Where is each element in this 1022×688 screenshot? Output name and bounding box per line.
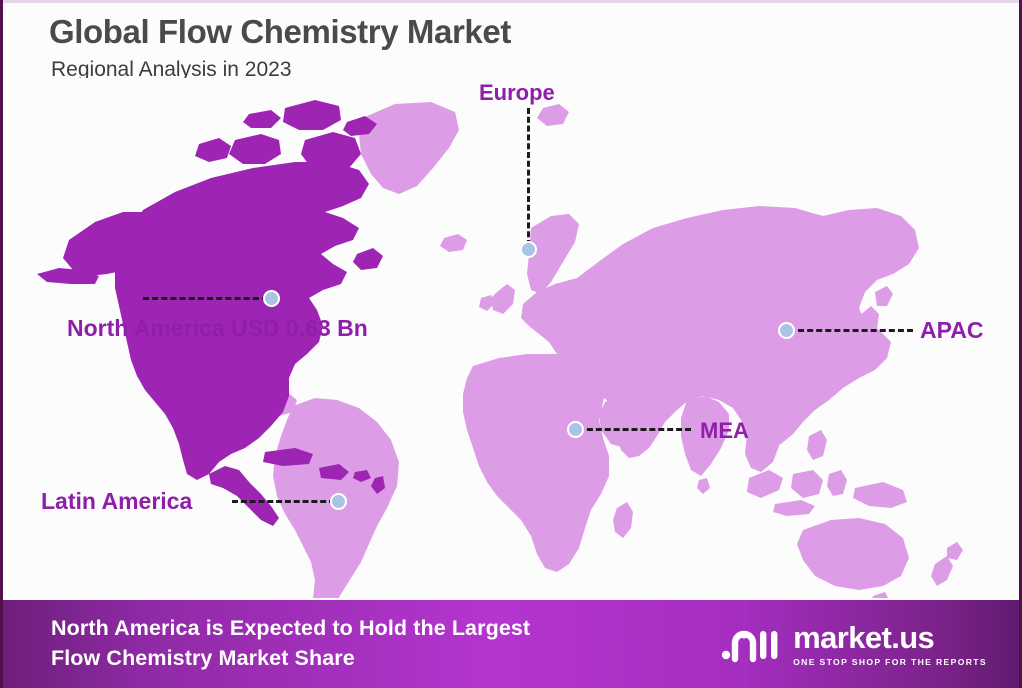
- region-label-europe[interactable]: Europe: [479, 80, 555, 107]
- infographic-root: Global Flow Chemistry Market Regional An…: [0, 0, 1022, 688]
- brand-text-block: market.us ONE STOP SHOP FOR THE REPORTS: [793, 622, 987, 667]
- region-label-latin-america[interactable]: Latin America: [41, 487, 192, 515]
- brand-lockup[interactable]: market.us ONE STOP SHOP FOR THE REPORTS: [720, 619, 997, 670]
- market-us-logo-icon: [720, 619, 782, 670]
- brand-name: market.us: [793, 622, 934, 653]
- bottom-banner: North America is Expected to Hold the La…: [3, 600, 1022, 688]
- page-title: Global Flow Chemistry Market: [49, 14, 511, 50]
- banner-headline: North America is Expected to Hold the La…: [51, 614, 530, 673]
- map-marker-north-america[interactable]: [263, 290, 280, 307]
- heading-block: Global Flow Chemistry Market Regional An…: [49, 14, 511, 82]
- brand-tagline: ONE STOP SHOP FOR THE REPORTS: [793, 657, 987, 667]
- region-label-apac[interactable]: APAC: [920, 316, 983, 344]
- map-marker-europe[interactable]: [520, 241, 537, 258]
- region-label-mea[interactable]: MEA: [700, 418, 749, 445]
- map-marker-latin-america[interactable]: [330, 493, 347, 510]
- map-marker-apac[interactable]: [778, 322, 795, 339]
- top-edge-rule: [3, 0, 1019, 3]
- map-marker-mea[interactable]: [567, 421, 584, 438]
- region-label-north-america[interactable]: North America USD 0.63 Bn: [67, 314, 368, 342]
